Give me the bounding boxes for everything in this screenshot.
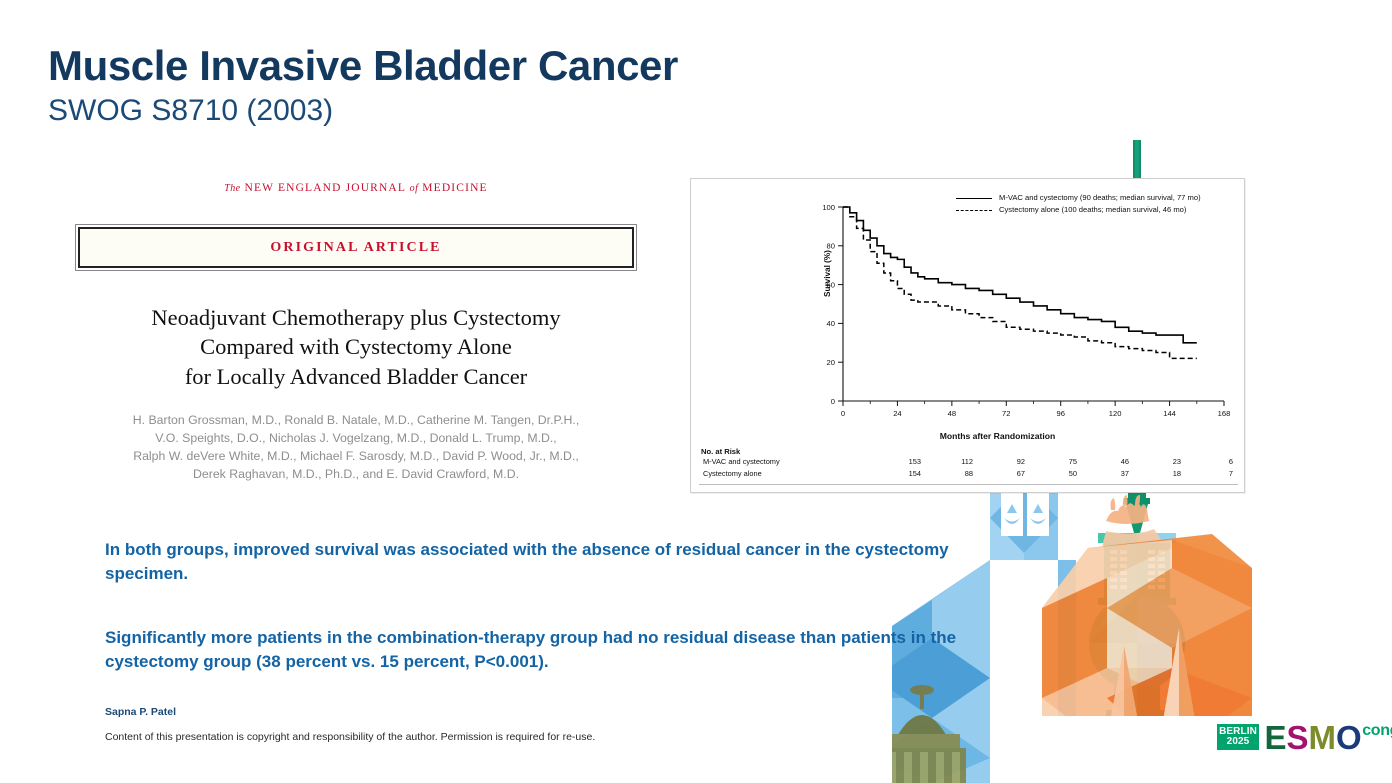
risk-row-label: Cystectomy alone	[701, 468, 869, 479]
svg-text:96: 96	[1056, 409, 1064, 418]
masthead-the: The	[224, 183, 240, 194]
callout-text-2: Significantly more patients in the combi…	[105, 626, 965, 674]
svg-text:48: 48	[948, 409, 956, 418]
article-title: Neoadjuvant Chemotherapy plus Cystectomy…	[64, 303, 648, 391]
title-block: Muscle Invasive Bladder Cancer SWOG S871…	[48, 45, 678, 126]
risk-table-grid: M-VAC and cystectomy153112927546236Cyste…	[701, 457, 1236, 480]
svg-text:72: 72	[1002, 409, 1010, 418]
svg-text:144: 144	[1163, 409, 1176, 418]
berlin-2025-badge: BERLIN 2025	[1215, 722, 1261, 752]
masthead-part1: NEW ENGLAND JOURNAL	[245, 182, 406, 194]
risk-row-value: 154	[869, 468, 921, 479]
svg-text:24: 24	[893, 409, 901, 418]
esmo-letter-m: M	[1308, 724, 1336, 752]
risk-row-value: 23	[1129, 457, 1181, 468]
svg-text:20: 20	[827, 358, 835, 367]
svg-text:60: 60	[827, 280, 835, 289]
chart-y-ticks: 020406080100	[822, 203, 843, 406]
svg-text:0: 0	[831, 397, 835, 406]
nejm-masthead: The NEW ENGLAND JOURNAL of MEDICINE	[64, 172, 648, 194]
chart-plot-area: 020406080100 024487296120144168	[691, 179, 1246, 437]
nikolaikirche-shape	[1094, 628, 1214, 783]
risk-table-title: No. at Risk	[701, 447, 1236, 456]
risk-row-value: 18	[1129, 468, 1181, 479]
risk-row-value: 112	[921, 457, 973, 468]
chart-x-axis-label: Months after Randomization	[691, 431, 1244, 441]
risk-row-value: 6	[1181, 457, 1233, 468]
chart-series-mvac-line	[843, 207, 1197, 343]
risk-row-value: 46	[1077, 457, 1129, 468]
esmo-wordmark: E S M O	[1264, 724, 1361, 752]
article-title-line-3: for Locally Advanced Bladder Cancer	[64, 362, 648, 391]
congress-wordmark: congress	[1362, 722, 1392, 740]
berliner-dom-shape	[892, 685, 966, 783]
risk-row-value: 88	[921, 468, 973, 479]
footer-block: Sapna P. Patel Content of this presentat…	[105, 706, 595, 743]
risk-row-value: 75	[1025, 457, 1077, 468]
masthead-part2: MEDICINE	[422, 182, 487, 194]
risk-row-label: M-VAC and cystectomy	[701, 457, 869, 468]
page-subtitle: SWOG S8710 (2003)	[48, 96, 678, 126]
nejm-article-panel: The NEW ENGLAND JOURNAL of MEDICINE ORIG…	[64, 172, 648, 502]
kaplan-meier-figure-panel: M-VAC and cystectomy (90 deaths; median …	[690, 178, 1245, 493]
slide-canvas: Muscle Invasive Bladder Cancer SWOG S871…	[0, 0, 1392, 783]
risk-table-row: M-VAC and cystectomy153112927546236	[701, 457, 1236, 468]
svg-text:168: 168	[1218, 409, 1231, 418]
authors-line-1: H. Barton Grossman, M.D., Ronald B. Nata…	[64, 411, 648, 429]
risk-row-value: 92	[973, 457, 1025, 468]
number-at-risk-table: No. at Risk M-VAC and cystectomy15311292…	[701, 447, 1236, 480]
authors-line-4: Derek Raghavan, M.D., Ph.D., and E. Davi…	[64, 465, 648, 483]
risk-table-rule	[699, 484, 1238, 485]
body-text-block: In both groups, improved survival was as…	[105, 538, 965, 675]
svg-text:40: 40	[827, 319, 835, 328]
chart-x-ticks: 024487296120144168	[841, 401, 1230, 418]
article-title-line-1: Neoadjuvant Chemotherapy plus Cystectomy	[64, 303, 648, 332]
esmo-congress-logo: BERLIN 2025 E S M O congress	[1215, 722, 1392, 752]
risk-row-spacer	[1233, 468, 1236, 479]
risk-row-value: 37	[1077, 468, 1129, 479]
masthead-of: of	[410, 183, 419, 194]
original-article-inner-frame: ORIGINAL ARTICLE	[78, 227, 634, 268]
chart-series-cystectomy-line	[843, 207, 1197, 358]
risk-row-value: 67	[973, 468, 1025, 479]
esmo-letter-s: S	[1286, 724, 1308, 752]
esmo-letter-o: O	[1336, 724, 1362, 752]
authors-line-2: V.O. Speights, D.O., Nicholas J. Vogelza…	[64, 429, 648, 447]
badge-year-label: 2025	[1227, 737, 1250, 747]
risk-table-row: Cystectomy alone15488675037187	[701, 468, 1236, 479]
page-title: Muscle Invasive Bladder Cancer	[48, 45, 678, 87]
risk-row-value: 153	[869, 457, 921, 468]
footer-copyright-text: Content of this presentation is copyrigh…	[105, 731, 595, 743]
risk-row-value: 7	[1181, 468, 1233, 479]
original-article-frame: ORIGINAL ARTICLE	[75, 224, 637, 271]
svg-text:120: 120	[1109, 409, 1122, 418]
authors-line-3: Ralph W. deVere White, M.D., Michael F. …	[64, 447, 648, 465]
risk-row-spacer	[1233, 457, 1236, 468]
risk-row-value: 50	[1025, 468, 1077, 479]
original-article-label: ORIGINAL ARTICLE	[270, 240, 441, 255]
article-authors: H. Barton Grossman, M.D., Ronald B. Nata…	[64, 411, 648, 484]
callout-text-1: In both groups, improved survival was as…	[105, 538, 965, 586]
article-title-line-2: Compared with Cystectomy Alone	[64, 332, 648, 361]
footer-author-name: Sapna P. Patel	[105, 706, 595, 718]
svg-text:80: 80	[827, 242, 835, 251]
svg-text:0: 0	[841, 409, 845, 418]
esmo-letter-e: E	[1264, 724, 1286, 752]
svg-text:100: 100	[822, 203, 835, 212]
